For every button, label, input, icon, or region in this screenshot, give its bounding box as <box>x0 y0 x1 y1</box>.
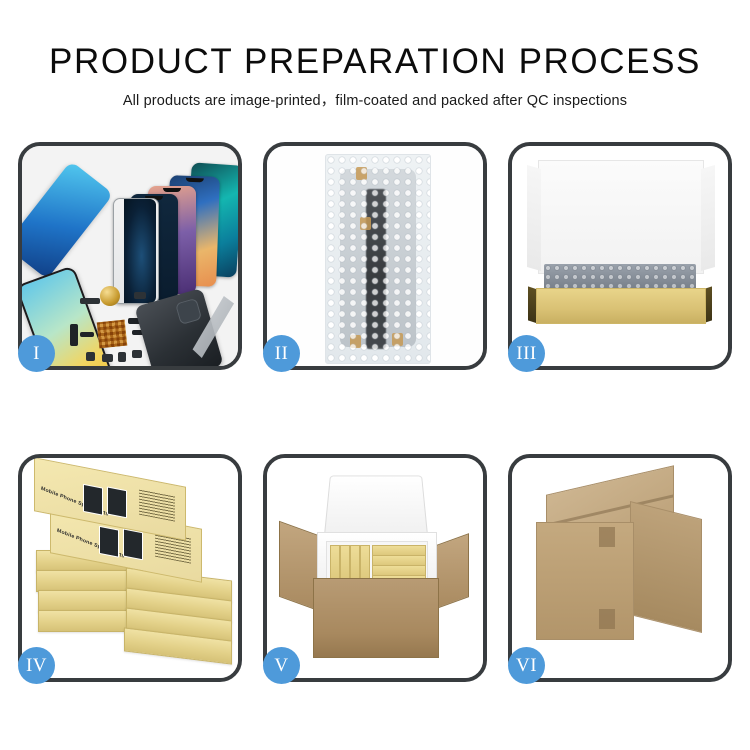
step-panel-1[interactable]: I <box>18 142 242 370</box>
phone-parts-scene <box>22 146 238 366</box>
chip-grid-icon <box>97 320 128 349</box>
product-window <box>107 486 127 518</box>
small-part <box>132 350 142 358</box>
blue-phone-graphic <box>22 161 114 279</box>
small-part <box>118 352 126 362</box>
small-part <box>102 354 113 362</box>
tray-base <box>536 288 706 324</box>
tray-lid <box>538 160 704 274</box>
carton-front-face <box>536 522 634 640</box>
step-badge-6: VI <box>508 647 545 684</box>
fan-phone-1 <box>113 198 159 304</box>
page-subtitle: All products are image-printed，film-coat… <box>0 89 750 110</box>
connector-tab <box>350 335 361 348</box>
bubble-wrap-filling <box>544 264 696 290</box>
product-window <box>83 484 103 516</box>
gold-component-icon <box>100 286 120 306</box>
notch-icon <box>163 188 181 192</box>
step-panel-4[interactable]: Mobile Phone Spare Parts Mobile Phone Sp… <box>18 454 242 682</box>
carton-tape <box>599 527 615 547</box>
carton-body <box>313 578 439 658</box>
connector-tab <box>360 217 371 230</box>
step-image-6 <box>512 458 728 678</box>
open-tray-box-scene <box>512 146 728 366</box>
connector-tab <box>392 333 403 346</box>
step-panel-6[interactable]: VI <box>508 454 732 682</box>
small-part <box>80 298 100 304</box>
stacked-box-edge <box>38 610 136 632</box>
stacked-box-edge <box>36 570 134 592</box>
flex-cable <box>70 324 78 346</box>
step-badge-2: II <box>263 335 300 372</box>
step-panel-5[interactable]: V <box>263 454 487 682</box>
sealed-carton-scene <box>512 458 728 678</box>
step-image-2 <box>267 146 483 366</box>
page-title: PRODUCT PREPARATION PROCESS <box>0 42 750 82</box>
product-window <box>99 526 119 558</box>
wrapped-part <box>366 189 386 349</box>
step-image-5 <box>267 458 483 678</box>
phone-screen-fan <box>114 162 238 292</box>
step-image-3 <box>512 146 728 366</box>
small-part <box>86 352 95 361</box>
step-panel-2[interactable]: II <box>263 142 487 370</box>
foam-lid <box>324 475 429 538</box>
connector-tab <box>356 167 367 180</box>
spec-text-lines <box>139 489 175 522</box>
stacked-boxes-scene: Mobile Phone Spare Parts Mobile Phone Sp… <box>22 458 238 678</box>
process-steps-grid: I II <box>18 142 732 687</box>
notch-icon <box>186 178 204 183</box>
bubble-wrap-scene <box>267 146 483 366</box>
step-image-4: Mobile Phone Spare Parts Mobile Phone Sp… <box>22 458 238 678</box>
step-badge-5: V <box>263 647 300 684</box>
product-window <box>123 528 143 560</box>
carton-side-face <box>630 501 702 633</box>
step-image-1 <box>22 146 238 366</box>
carton-tape <box>599 609 615 629</box>
stacked-box-edge <box>38 590 136 612</box>
flex-cable <box>80 332 94 337</box>
step-badge-4: IV <box>18 647 55 684</box>
page-header: PRODUCT PREPARATION PROCESS All products… <box>0 0 750 130</box>
small-part <box>134 292 146 299</box>
bubble-wrap-bag <box>325 154 431 364</box>
step-badge-1: I <box>18 335 55 372</box>
step-badge-3: III <box>508 335 545 372</box>
step-panel-3[interactable]: III <box>508 142 732 370</box>
carton-with-foam-scene <box>267 458 483 678</box>
